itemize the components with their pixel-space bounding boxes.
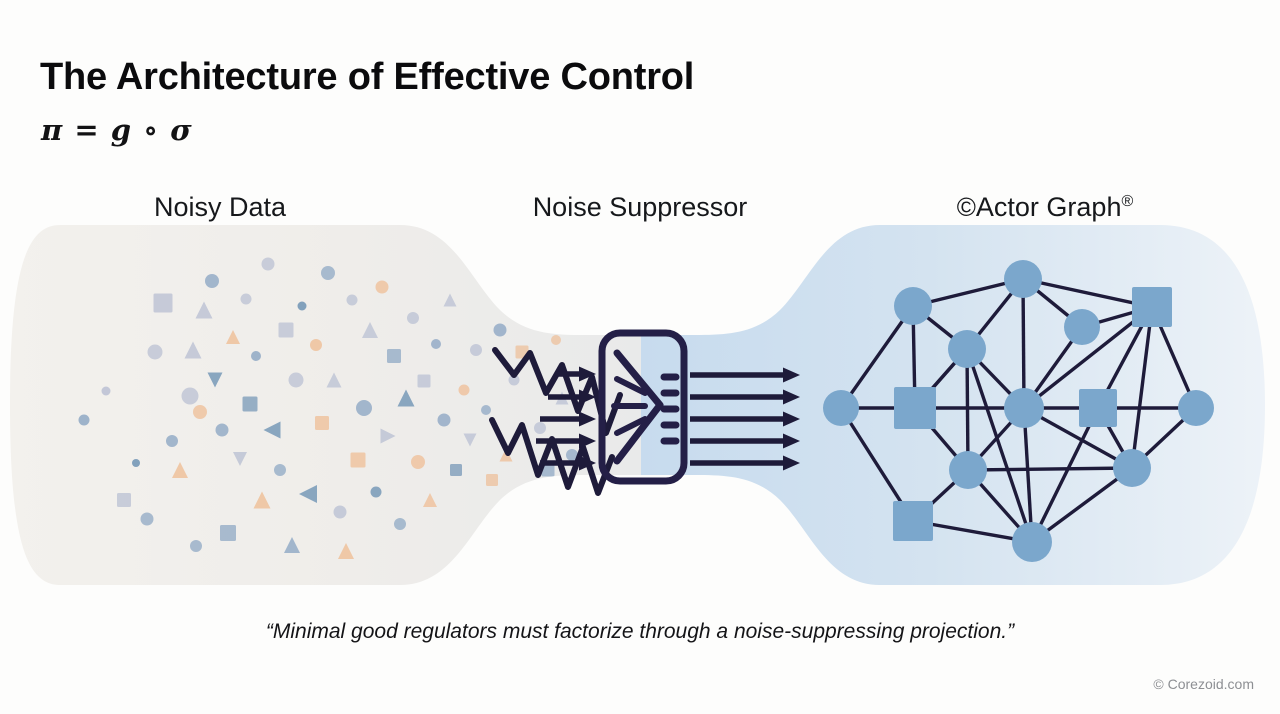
stage-label-noisy-data: Noisy Data <box>75 192 365 223</box>
registered-icon: ® <box>1121 193 1133 210</box>
stage-label-actor-graph: ©Actor Graph® <box>880 192 1210 223</box>
noise-particle <box>418 375 431 388</box>
graph-node-n12[interactable] <box>1113 449 1151 487</box>
graph-node-n13[interactable] <box>893 501 933 541</box>
noise-particle <box>298 302 307 311</box>
graph-node-n14[interactable] <box>1012 522 1052 562</box>
noise-particle <box>387 349 401 363</box>
noise-particle <box>534 422 546 434</box>
noise-particle <box>166 435 178 447</box>
noise-particle <box>205 274 219 288</box>
noise-particle <box>407 312 419 324</box>
noise-particle <box>141 513 154 526</box>
formula-expression: π = g ∘ σ <box>41 113 193 147</box>
noise-particle <box>310 339 322 351</box>
graph-node-n11[interactable] <box>949 451 987 489</box>
noise-particle <box>572 304 584 316</box>
noise-particle <box>347 295 358 306</box>
graph-edge <box>968 468 1132 470</box>
noise-particle <box>79 415 90 426</box>
noise-particle <box>470 344 482 356</box>
noise-particle <box>102 387 111 396</box>
noise-particle <box>321 266 335 280</box>
noise-particle <box>241 294 252 305</box>
noise-particle <box>193 405 207 419</box>
graph-node-n8[interactable] <box>1004 388 1044 428</box>
noise-particle <box>494 324 507 337</box>
noise-particle <box>459 385 470 396</box>
noise-particle <box>220 525 236 541</box>
noise-particle <box>334 506 347 519</box>
page-title: The Architecture of Effective Control <box>40 58 694 98</box>
noise-particle <box>154 294 173 313</box>
noise-particle <box>581 500 591 510</box>
band-left-half <box>0 225 641 585</box>
noise-particle <box>371 487 382 498</box>
noise-particle <box>481 405 491 415</box>
graph-node-n3[interactable] <box>1064 309 1100 345</box>
noise-particle <box>132 459 140 467</box>
stage-label-actor-graph-text: Actor Graph <box>976 192 1122 222</box>
caption-text: “Minimal good regulators must factorize … <box>0 620 1280 644</box>
noise-particle <box>450 464 462 476</box>
graph-node-n9[interactable] <box>1079 389 1117 427</box>
graph-node-n5[interactable] <box>948 330 986 368</box>
noise-particle <box>356 400 372 416</box>
noise-particle <box>289 373 304 388</box>
noise-particle <box>243 397 258 412</box>
noise-particle <box>182 388 199 405</box>
graph-node-n2[interactable] <box>894 287 932 325</box>
noise-particle <box>351 453 366 468</box>
noise-particle <box>279 323 294 338</box>
noise-particle <box>148 345 163 360</box>
noise-particle <box>216 424 229 437</box>
noise-particle <box>411 455 425 469</box>
pipeline-diagram <box>0 225 1280 585</box>
noise-particle <box>551 335 561 345</box>
noise-particle <box>251 351 261 361</box>
graph-node-n10[interactable] <box>1178 390 1214 426</box>
noise-particle <box>431 339 441 349</box>
noise-particle <box>394 518 406 530</box>
graph-node-n1[interactable] <box>1004 260 1042 298</box>
stage-label-noise-suppressor: Noise Suppressor <box>490 192 790 223</box>
noise-particle <box>117 493 131 507</box>
graph-node-n6[interactable] <box>823 390 859 426</box>
noise-particle <box>376 281 389 294</box>
copyright-icon: © <box>957 192 976 222</box>
noise-particle <box>274 464 286 476</box>
graph-node-n7[interactable] <box>894 387 936 429</box>
credit-text: © Corezoid.com <box>1153 676 1254 692</box>
noise-particle <box>262 258 275 271</box>
noise-particle <box>525 495 536 506</box>
graph-node-n4[interactable] <box>1132 287 1172 327</box>
noise-particle <box>315 416 329 430</box>
noise-particle <box>190 540 202 552</box>
slide-canvas: The Architecture of Effective Control π … <box>0 0 1280 714</box>
noise-particle <box>438 414 451 427</box>
noise-particle <box>486 474 498 486</box>
